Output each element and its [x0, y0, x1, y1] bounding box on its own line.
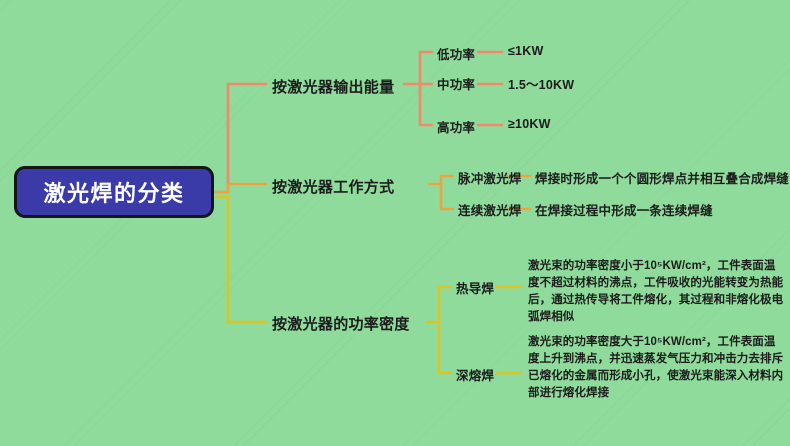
branch-node-output-energy[interactable]: 按激光器输出能量 — [272, 76, 394, 97]
item-value-high-power: ≥10KW — [508, 117, 551, 131]
item-node-low-power[interactable]: 低功率 — [437, 44, 475, 63]
item-value-conduction-welding: 激光束的功率密度小于10⁵KW/cm²，工件表面温度不超过材料的沸点，工件吸收的… — [528, 258, 784, 326]
root-node[interactable]: 激光焊的分类 — [14, 166, 214, 218]
trunk-edge-branch-2 — [216, 197, 266, 322]
item-value-deep-penetration-welding: 激光束的功率密度大于10⁵KW/cm²，工件表面温度上升到沸点，并迅速蒸发气压力… — [528, 334, 784, 402]
branch-0-bracket — [404, 52, 432, 125]
item-value-medium-power: 1.5～10KW — [508, 74, 574, 93]
branch-1-bracket — [429, 176, 453, 209]
item-node-continuous-laser-welding[interactable]: 连续激光焊 — [458, 200, 522, 219]
mindmap-canvas: 激光焊的分类 按激光器输出能量 按激光器工作方式 按激光器的功率密度 低功率 ≤… — [0, 0, 790, 446]
trunk-edge-branch-1 — [216, 184, 266, 192]
trunk-edge-branch-0 — [216, 84, 266, 192]
root-node-label: 激光焊的分类 — [43, 176, 184, 208]
item-node-medium-power[interactable]: 中功率 — [437, 74, 475, 93]
item-value-low-power: ≤1KW — [508, 44, 543, 58]
item-value-pulsed-laser-welding: 焊接时形成一个个圆形焊点并相互叠合成焊缝 — [535, 168, 789, 187]
branch-2-bracket — [427, 287, 451, 373]
item-node-deep-penetration-welding[interactable]: 深熔焊 — [456, 365, 494, 384]
item-node-high-power[interactable]: 高功率 — [437, 117, 475, 136]
branch-node-power-density[interactable]: 按激光器的功率密度 — [272, 313, 410, 334]
item-value-continuous-laser-welding: 在焊接过程中形成一条连续焊缝 — [535, 200, 713, 219]
branch-node-working-mode[interactable]: 按激光器工作方式 — [272, 176, 394, 197]
item-node-pulsed-laser-welding[interactable]: 脉冲激光焊 — [458, 168, 522, 187]
item-node-conduction-welding[interactable]: 热导焊 — [456, 278, 494, 297]
